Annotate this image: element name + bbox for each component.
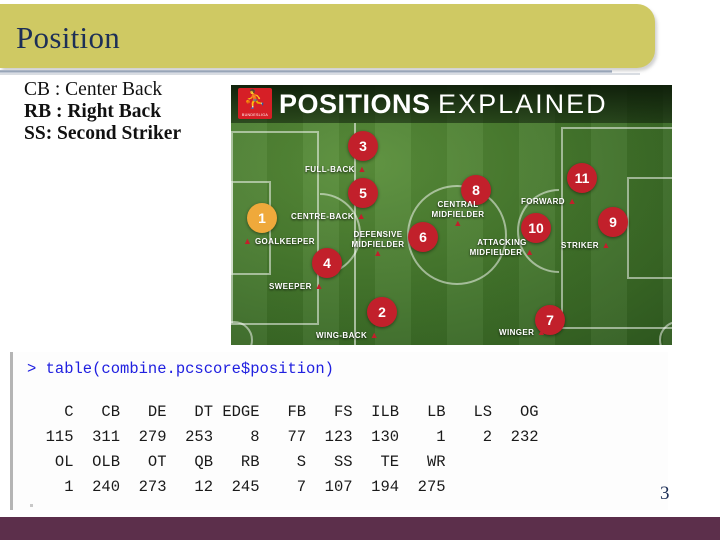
player-label-central-midfielder: CENTRAL MIDFIELDER ▲ (427, 200, 489, 229)
console-resize-dot (30, 504, 33, 507)
bundesliga-wordmark: BUNDESLIGA (238, 113, 272, 117)
player-label-wing-back: WING-BACK ▲ (316, 331, 379, 341)
soccer-positions-figure: ⛹ BUNDESLIGA POSITIONS EXPLAINED 1 ▲ GOA… (231, 85, 672, 345)
figure-banner-title: POSITIONS EXPLAINED (279, 87, 608, 121)
player-label-striker: STRIKER ▲ (561, 241, 611, 251)
banner-word-positions: POSITIONS (279, 89, 431, 119)
page-title: Position (16, 20, 120, 56)
figure-banner: ⛹ BUNDESLIGA POSITIONS EXPLAINED (231, 85, 672, 123)
legend-line-rb: RB : Right Back (24, 101, 229, 123)
bundesliga-player-glyph: ⛹ (238, 89, 272, 109)
banner-word-explained: EXPLAINED (438, 89, 608, 119)
r-console-output-table: C CB DE DT EDGE FB FS ILB LB LS OG 115 3… (27, 400, 539, 500)
player-label-attacking-midfielder: ATTACKING MIDFIELDER ▲ (469, 238, 535, 257)
player-label-full-back: FULL-BACK ▲ (305, 165, 367, 175)
player-label-goalkeeper: ▲ GOALKEEPER (243, 237, 315, 247)
player-marker-full-back: 3 (348, 131, 378, 161)
r-console-output-panel: > table(combine.pcscore$position) C CB D… (10, 352, 668, 510)
player-marker-forward: 11 (567, 163, 597, 193)
bundesliga-logo-icon: ⛹ BUNDESLIGA (238, 88, 272, 119)
player-marker-sweeper: 4 (312, 248, 342, 278)
player-label-sweeper: SWEEPER ▲ (269, 282, 324, 292)
player-label-defensive-midfielder: DEFENSIVE MIDFIELDER ▲ (347, 230, 409, 259)
title-divider-shadow (0, 73, 640, 75)
player-marker-striker: 9 (598, 207, 628, 237)
legend-line-cb: CB : Center Back (24, 79, 229, 101)
position-abbreviation-legend: CB : Center Back RB : Right Back SS: Sec… (24, 79, 229, 145)
slide-title-bar: Position (0, 4, 655, 68)
legend-line-ss: SS: Second Striker (24, 123, 229, 145)
slide-page-number: 3 (660, 483, 670, 505)
slide-footer-bar (0, 517, 720, 540)
r-console-command: > table(combine.pcscore$position) (27, 360, 334, 378)
player-label-centre-back: CENTRE-BACK ▲ (291, 212, 366, 222)
right-goal-area (627, 177, 672, 279)
player-label-forward: FORWARD ▲ (521, 197, 577, 207)
player-marker-centre-back: 5 (348, 178, 378, 208)
player-marker-goalkeeper: 1 (247, 203, 277, 233)
player-label-winger: WINGER ▲ (499, 328, 546, 338)
player-marker-wing-back: 2 (367, 297, 397, 327)
